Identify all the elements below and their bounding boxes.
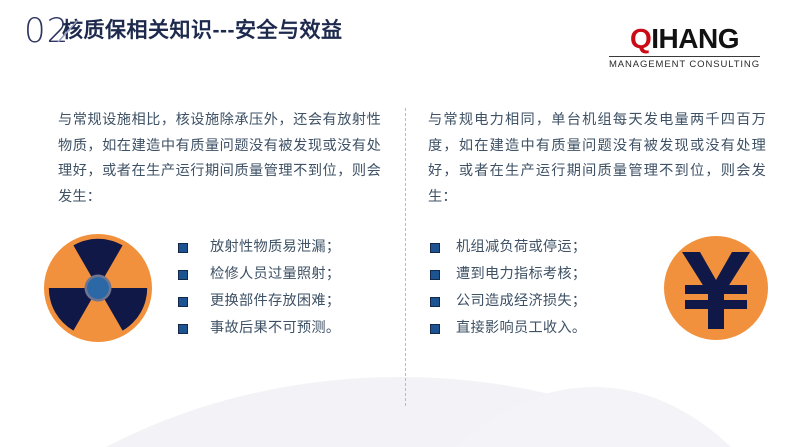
list-item: 检修人员过量照射； [178,261,387,288]
logo-rule-divider [609,56,760,57]
list-item: 放射性物质易泄漏； [178,234,387,261]
list-item: 事故后果不可预测。 [178,315,387,342]
list-item-label: 事故后果不可预测。 [210,315,340,342]
list-item-label: 检修人员过量照射； [210,261,340,288]
list-item: 更换部件存放困难； [178,288,387,315]
list-item: 遭到电力指标考核； [430,261,652,288]
logo-letters-rest: IHANG [651,23,739,54]
logo-wordmark: QIHANG [609,24,760,54]
slash-divider-icon [56,18,82,44]
logo-subtitle: MANAGEMENT CONSULTING [609,59,760,70]
column-divider [405,108,406,406]
left-paragraph: 与常规设施相比，核设施除承压外，还会有放射性物质，如在建造中有质量问题没有被发现… [42,108,387,210]
list-item-label: 遭到电力指标考核； [456,261,586,288]
right-column: 与常规电力相同，单台机组每天发电量两千四百万度，如在建造中有质量问题没有被发现或… [424,108,772,344]
bullet-square-icon [178,324,188,334]
bullet-square-icon [178,243,188,253]
list-item-label: 直接影响员工收入。 [456,315,586,342]
bullet-square-icon [430,324,440,334]
slide-header: 02 核质保相关知识---安全与效益 QIHANG MANAGEMENT CON… [0,0,794,90]
right-icon-list-row: 机组减负荷或停运； 遭到电力指标考核； 公司造成经济损失； 直接影响员工收入。 [424,232,772,344]
company-logo: QIHANG MANAGEMENT CONSULTING [609,24,760,70]
bullet-square-icon [430,270,440,280]
right-paragraph: 与常规电力相同，单台机组每天发电量两千四百万度，如在建造中有质量问题没有被发现或… [424,108,772,210]
right-bullet-list: 机组减负荷或停运； 遭到电力指标考核； 公司造成经济损失； 直接影响员工收入。 [430,234,652,342]
list-item-label: 公司造成经济损失； [456,288,586,315]
page-title: 核质保相关知识---安全与效益 [62,14,342,48]
bullet-square-icon [430,297,440,307]
left-column: 与常规设施相比，核设施除承压外，还会有放射性物质，如在建造中有质量问题没有被发现… [42,108,387,344]
bullet-square-icon [178,270,188,280]
slide-canvas: 02 核质保相关知识---安全与效益 QIHANG MANAGEMENT CON… [0,0,794,447]
radiation-hazard-icon [42,232,154,344]
list-item: 直接影响员工收入。 [430,315,652,342]
logo-letter-q: Q [630,23,651,54]
bullet-square-icon [178,297,188,307]
list-item-label: 机组减负荷或停运； [456,234,586,261]
left-bullet-list: 放射性物质易泄漏； 检修人员过量照射； 更换部件存放困难； 事故后果不可预测。 [178,234,387,342]
yen-currency-icon [660,232,772,344]
left-icon-list-row: 放射性物质易泄漏； 检修人员过量照射； 更换部件存放困难； 事故后果不可预测。 [42,232,387,344]
list-item-label: 放射性物质易泄漏； [210,234,340,261]
list-item: 机组减负荷或停运； [430,234,652,261]
list-item-label: 更换部件存放困难； [210,288,340,315]
list-item: 公司造成经济损失； [430,288,652,315]
bullet-square-icon [430,243,440,253]
